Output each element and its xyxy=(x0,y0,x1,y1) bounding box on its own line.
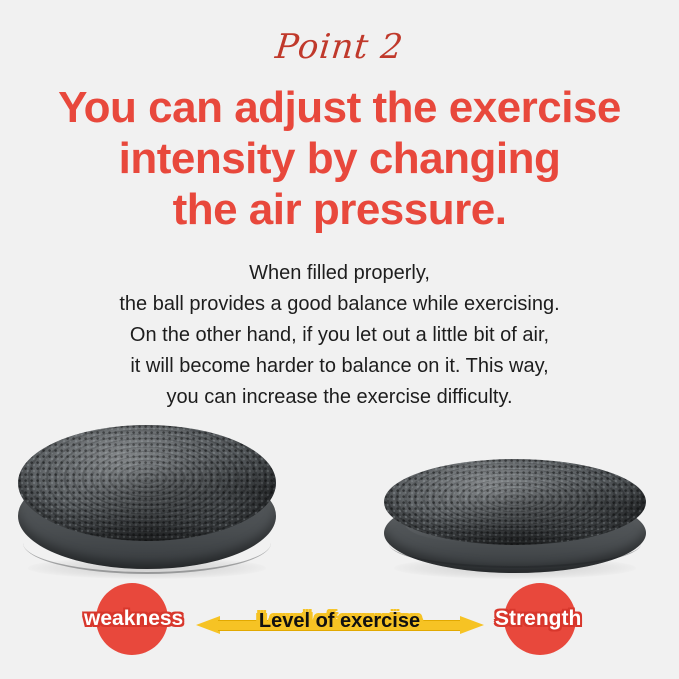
cushion-dome-shading xyxy=(18,425,276,541)
headline-line-1: You can adjust the exercise xyxy=(0,82,679,133)
body-line-3: On the other hand, if you let out a litt… xyxy=(0,320,679,351)
balance-cushion-inflated-image xyxy=(18,425,276,575)
poster-root: Point 2 You can adjust the exercise inte… xyxy=(0,0,679,679)
body-paragraph: When filled properly, the ball provides … xyxy=(0,258,679,413)
headline-line-2: intensity by changing xyxy=(0,133,679,184)
cushion-dome-shading xyxy=(384,459,646,545)
body-line-5: you can increase the exercise difficulty… xyxy=(0,382,679,413)
cushion-nubbed-dome xyxy=(18,425,276,541)
product-comparison xyxy=(0,415,679,585)
cushion-nubbed-dome xyxy=(384,459,646,545)
body-line-4: it will become harder to balance on it. … xyxy=(0,351,679,382)
exercise-level-scale: weakness Level of exercise Strength xyxy=(0,583,679,663)
eyebrow-point-label: Point 2 xyxy=(0,30,679,64)
headline-line-3: the air pressure. xyxy=(0,184,679,235)
body-line-2: the ball provides a good balance while e… xyxy=(0,289,679,320)
scale-label-strength: Strength xyxy=(495,607,581,631)
body-line-1: When filled properly, xyxy=(0,258,679,289)
page-title: You can adjust the exercise intensity by… xyxy=(0,82,679,235)
balance-cushion-deflated-image xyxy=(384,459,646,575)
